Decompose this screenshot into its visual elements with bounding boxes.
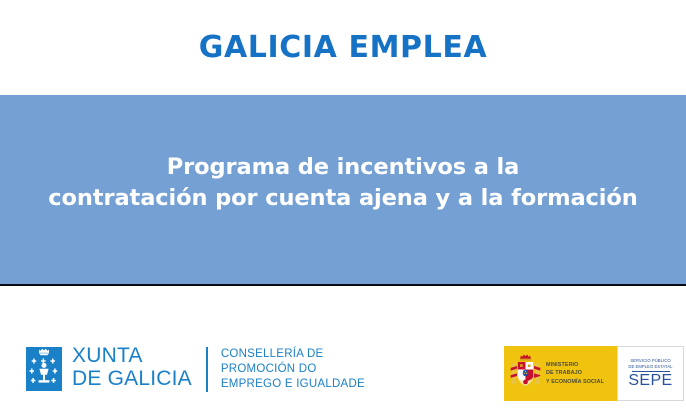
banner-line-2: contratación por cuenta ajena y a la for… — [0, 183, 686, 214]
xunta-wordmark: XUNTA DE GALICIA — [72, 345, 192, 390]
logo-divider — [206, 347, 208, 392]
footer-logos: XUNTA DE GALICIA CONSELLERÍA DE PROMOCIÓ… — [0, 286, 686, 410]
spain-coat-of-arms-icon — [510, 352, 541, 396]
xunta-wordmark-line-2: DE GALICIA — [72, 368, 192, 391]
ministry-text: MINISTERIO DE TRABAJO Y ECONOMÍA SOCIAL — [546, 361, 604, 385]
conselleria-line-1: CONSELLERÍA DE — [221, 347, 365, 362]
sepe-logo: SERVICIO PÚBLICO DE EMPLEO ESTATAL SEPE — [617, 346, 684, 401]
ministry-de-trabajo-logo: MINISTERIO DE TRABAJO Y ECONOMÍA SOCIAL — [504, 346, 617, 401]
sepe-wordmark: SEPE — [628, 373, 672, 389]
ministry-line-1: MINISTERIO — [546, 361, 604, 369]
conselleria-line-2: PROMOCIÓN DO — [221, 362, 365, 377]
program-banner: Programa de incentivos a la contratación… — [0, 95, 686, 284]
xunta-de-galicia-coat-of-arms-icon — [26, 347, 62, 391]
ministry-line-2: DE TRABAJO — [546, 369, 604, 377]
sepe-subtitle-line-1: SERVICIO PÚBLICO — [628, 358, 672, 364]
sepe-subtitle-line-2: DE EMPLEO ESTATAL — [628, 364, 672, 370]
title-area: GALICIA EMPLEA — [0, 0, 686, 95]
banner-text-block: Programa de incentivos a la contratación… — [0, 152, 686, 227]
ministry-sepe-logo: MINISTERIO DE TRABAJO Y ECONOMÍA SOCIAL … — [504, 346, 684, 401]
ministry-line-3: Y ECONOMÍA SOCIAL — [546, 378, 604, 386]
conselleria-line-3: EMPREGO E IGUALDADE — [221, 377, 365, 392]
conselleria-block: CONSELLERÍA DE PROMOCIÓN DO EMPREGO E IG… — [221, 347, 365, 393]
page-title: GALICIA EMPLEA — [199, 30, 488, 65]
xunta-wordmark-line-1: XUNTA — [72, 345, 192, 368]
banner-line-1: Programa de incentivos a la — [0, 152, 686, 183]
xunta-de-galicia-logo: XUNTA DE GALICIA CONSELLERÍA DE PROMOCIÓ… — [26, 346, 365, 393]
sepe-subtitle: SERVICIO PÚBLICO DE EMPLEO ESTATAL — [628, 358, 672, 370]
